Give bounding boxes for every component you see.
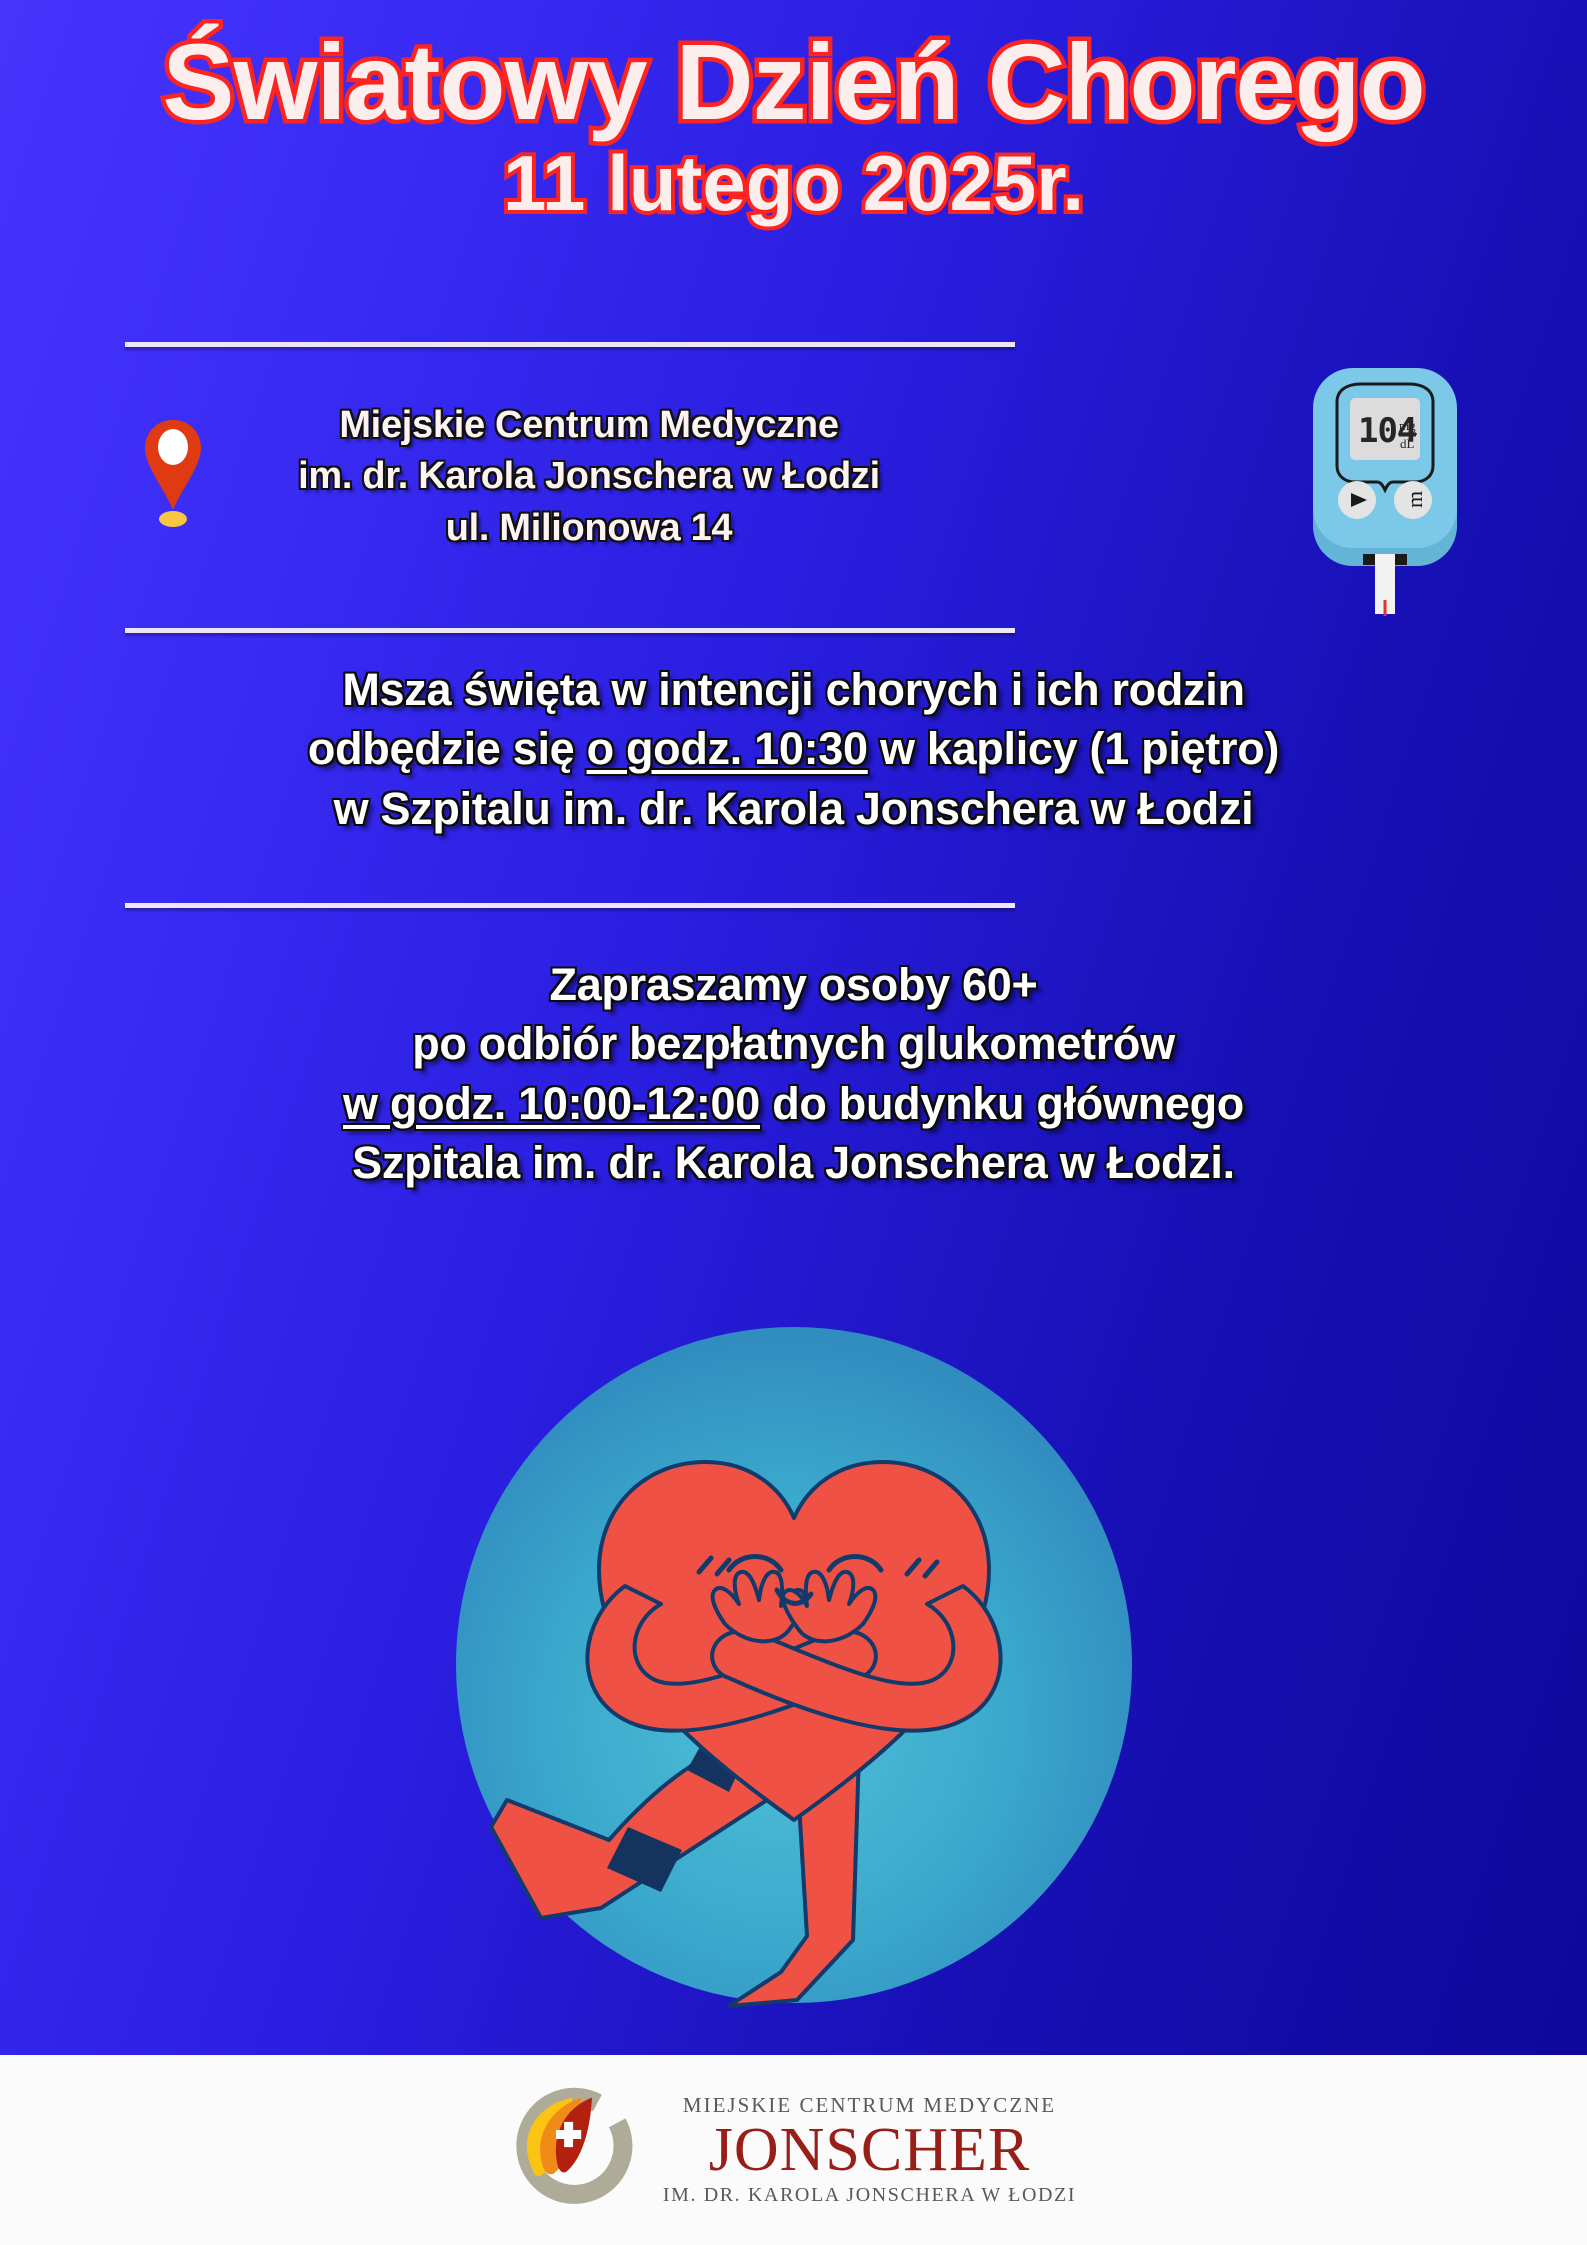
address-line-1: Miejskie Centrum Medyczne <box>203 400 975 451</box>
mass-time-underlined: o godz. 10:30 <box>587 723 868 774</box>
page-subtitle-date: 11 lutego 2025r. <box>0 144 1587 222</box>
invitation-line-2: po odbiór bezpłatnych glukometrów <box>90 1014 1497 1073</box>
address-text: Miejskie Centrum Medyczne im. dr. Karola… <box>203 400 1015 554</box>
poster-root: Światowy Dzień Chorego 11 lutego 2025r. … <box>0 0 1587 2245</box>
logo-line-main: JONSCHER <box>709 2119 1031 2181</box>
divider-bottom <box>125 903 1015 908</box>
divider-middle <box>125 628 1015 633</box>
invitation-line-1: Zapraszamy osoby 60+ <box>90 955 1497 1014</box>
page-title: Światowy Dzień Chorego <box>0 28 1587 136</box>
jonscher-logo-text: MIEJSKIE CENTRUM MEDYCZNE JONSCHER IM. D… <box>663 2095 1076 2205</box>
mass-line-2-post: w kaplicy (1 piętro) <box>868 723 1279 774</box>
invitation-block: Zapraszamy osoby 60+ po odbiór bezpłatny… <box>90 955 1497 1193</box>
svg-text:m: m <box>1402 491 1427 508</box>
footer-bar: MIEJSKIE CENTRUM MEDYCZNE JONSCHER IM. D… <box>0 2055 1587 2245</box>
glucometer-unit-bottom: dL <box>1400 436 1415 451</box>
location-pin-icon <box>143 418 203 528</box>
hugging-heart-illustration <box>429 1300 1159 2030</box>
logo-line-top: MIEJSKIE CENTRUM MEDYCZNE <box>683 2095 1056 2116</box>
address-line-2: im. dr. Karola Jonschera w Łodzi <box>203 451 975 502</box>
logo-line-bottom: IM. DR. KAROLA JONSCHERA W ŁODZI <box>663 2185 1076 2205</box>
mass-line-2-pre: odbędzie się <box>308 723 587 774</box>
divider-top <box>125 342 1015 347</box>
invitation-line-3: w godz. 10:00-12:00 do budynku głównego <box>90 1074 1497 1133</box>
mass-line-3: w Szpitalu im. dr. Karola Jonschera w Ło… <box>90 779 1497 838</box>
glucometer-icon: 104 mg dL m <box>1295 358 1475 618</box>
invitation-line-3-post: do budynku głównego <box>760 1078 1244 1129</box>
jonscher-logo: MIEJSKIE CENTRUM MEDYCZNE JONSCHER IM. D… <box>511 2085 1076 2216</box>
jonscher-leaf-ring-logo-icon <box>511 2085 637 2216</box>
mass-info-block: Msza święta w intencji chorych i ich rod… <box>90 660 1497 838</box>
poster-header: Światowy Dzień Chorego 11 lutego 2025r. <box>0 28 1587 222</box>
mass-line-1: Msza święta w intencji chorych i ich rod… <box>90 660 1497 719</box>
address-line-3: ul. Milionowa 14 <box>203 503 975 554</box>
mass-line-2: odbędzie się o godz. 10:30 w kaplicy (1 … <box>90 719 1497 778</box>
glucometer-unit-top: mg <box>1399 418 1416 433</box>
invitation-hours-underlined: w godz. 10:00-12:00 <box>343 1078 760 1129</box>
invitation-line-4: Szpitala im. dr. Karola Jonschera w Łodz… <box>90 1133 1497 1192</box>
address-block: Miejskie Centrum Medyczne im. dr. Karola… <box>125 400 1015 554</box>
